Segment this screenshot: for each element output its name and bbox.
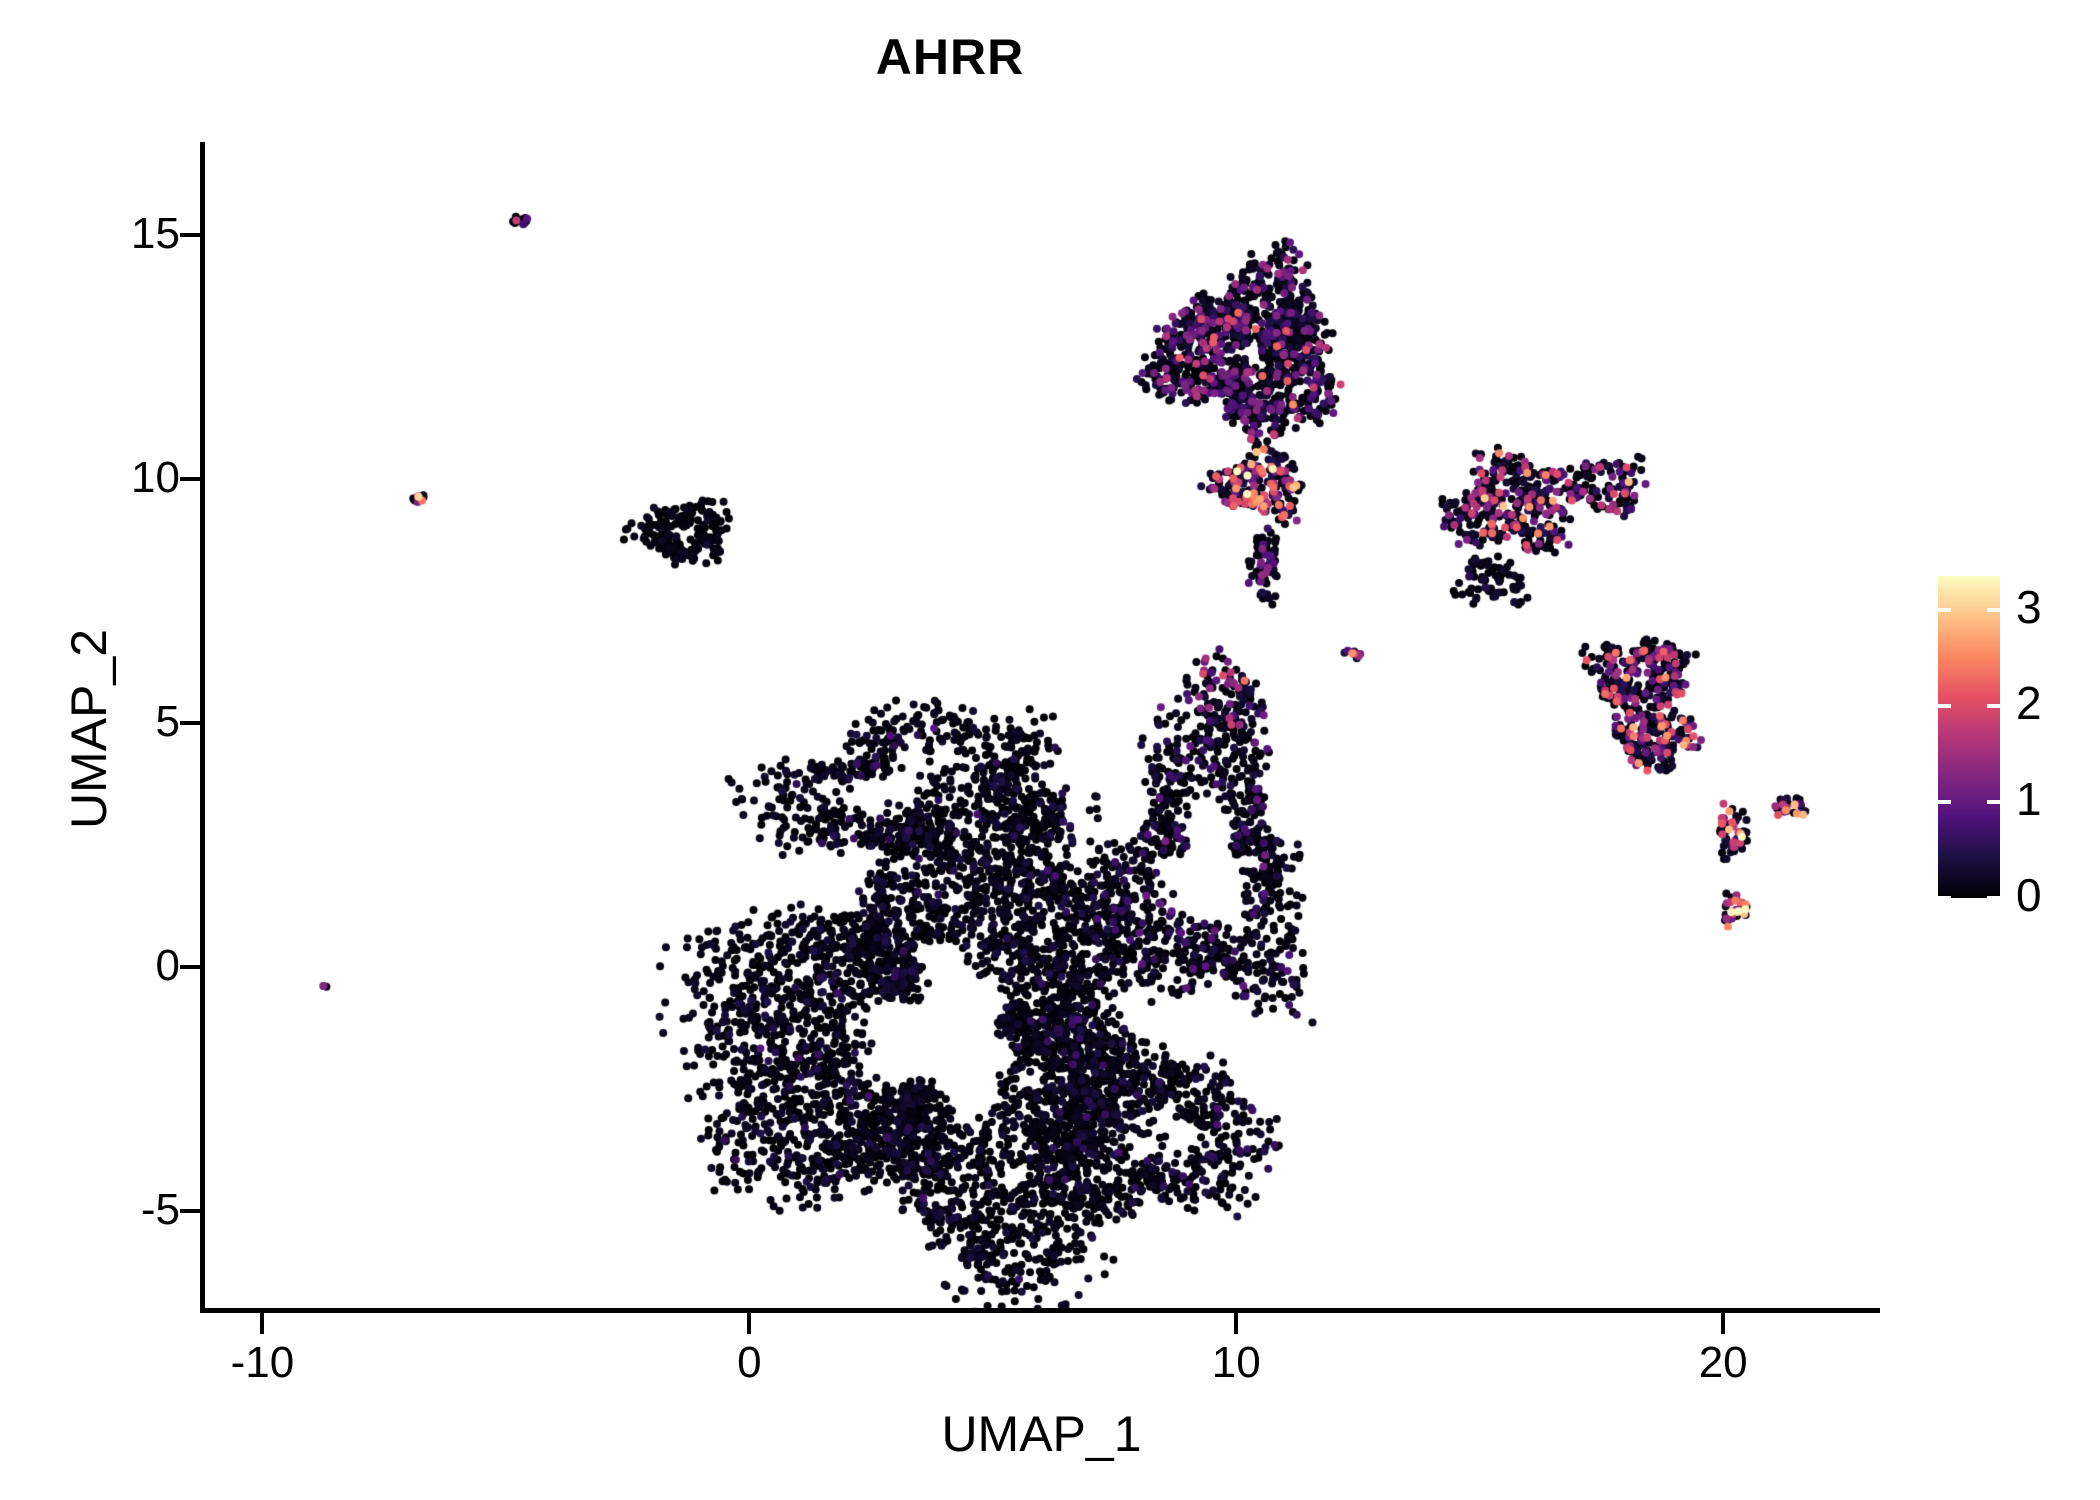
legend-colorbar [1938, 576, 2000, 898]
x-axis-title: UMAP_1 [204, 1405, 1879, 1463]
legend-tick-mark [1938, 800, 1951, 804]
x-tick-label: 10 [1136, 1338, 1336, 1388]
y-tick-10 [180, 477, 201, 481]
y-axis-line [200, 142, 205, 1312]
x-tick-10 [1234, 1313, 1238, 1334]
x-tick-label: -10 [162, 1338, 362, 1388]
legend-label-1: 1 [2016, 776, 2042, 822]
x-tick--10 [260, 1313, 264, 1334]
y-tick-label: -5 [0, 1185, 180, 1235]
x-tick-20 [1721, 1313, 1725, 1334]
legend-tick-mark [1987, 800, 2000, 804]
legend-tick-mark [1987, 896, 2000, 900]
scatter-points-layer [204, 142, 1879, 1309]
legend-label-2: 2 [2016, 680, 2042, 726]
y-tick-0 [180, 965, 201, 969]
plot-panel [204, 142, 1879, 1309]
legend-tick-mark [1938, 704, 1951, 708]
x-tick-0 [747, 1313, 751, 1334]
page-title: AHRR [0, 28, 1900, 86]
legend-label-3: 3 [2016, 584, 2042, 630]
y-axis-title: UMAP_2 [60, 329, 118, 1129]
legend-tick-mark [1987, 704, 2000, 708]
y-tick-label: 15 [0, 209, 180, 259]
legend-label-0: 0 [2016, 872, 2042, 918]
x-tick-label: 20 [1623, 1338, 1823, 1388]
y-tick--5 [180, 1209, 201, 1213]
legend-tick-mark [1938, 608, 1951, 612]
x-axis-line [200, 1308, 1880, 1313]
legend-tick-mark [1938, 896, 1951, 900]
x-tick-label: 0 [649, 1338, 849, 1388]
y-tick-15 [180, 233, 201, 237]
legend-tick-mark [1987, 608, 2000, 612]
umap-feature-plot: AHRR -1001020 -5051015 UMAP_1 UMAP_2 012… [0, 0, 2100, 1500]
y-tick-5 [180, 721, 201, 725]
